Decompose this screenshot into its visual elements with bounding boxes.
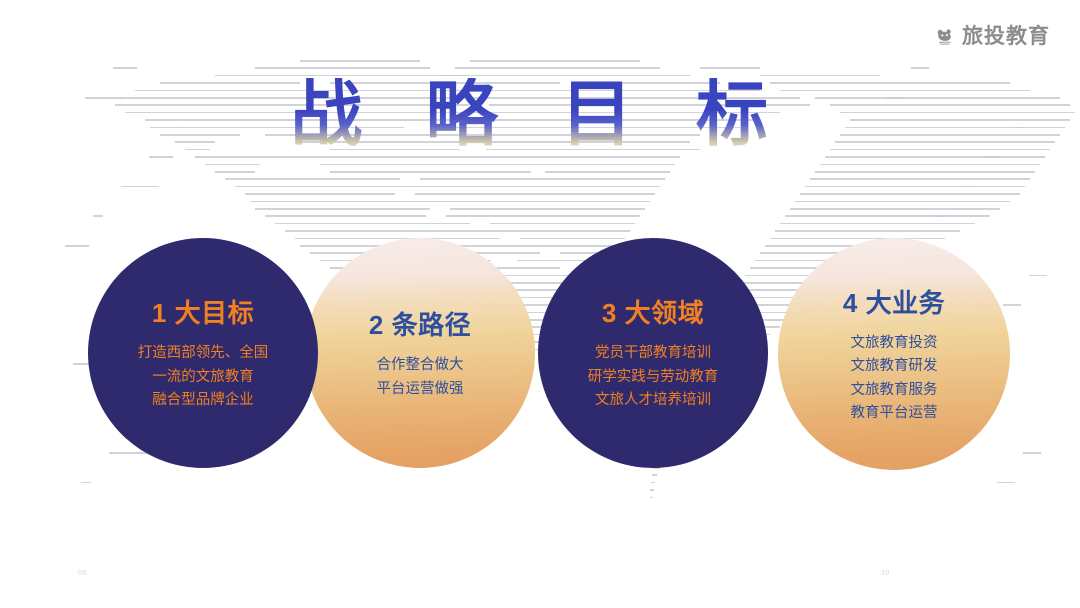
circle-body-line: 文旅教育服务: [851, 379, 938, 402]
page-title: 战 略 目 标: [0, 78, 1080, 154]
circle-body-line: 融合型品牌企业: [138, 389, 269, 412]
circle-title-2: 2 条路径: [369, 305, 471, 342]
circle-card-4[interactable]: 4 大业务 文旅教育投资 文旅教育研发 文旅教育服务 教育平台运营: [778, 238, 1010, 470]
circle-title-4: 4 大业务: [843, 283, 945, 320]
circle-body-line: 文旅人才培养培训: [588, 389, 719, 412]
panda-logo-icon: [935, 27, 955, 47]
circle-body-1: 打造西部领先、全国 一流的文旅教育 融合型品牌企业: [138, 342, 269, 412]
circle-card-1[interactable]: 1 大目标 打造西部领先、全国 一流的文旅教育 融合型品牌企业: [88, 238, 318, 468]
page-number-left: 09: [78, 570, 87, 577]
circle-body-4: 文旅教育投资 文旅教育研发 文旅教育服务 教育平台运营: [851, 332, 938, 426]
circle-title-3: 3 大领域: [602, 293, 704, 330]
circle-body-2: 合作整合做大 平台运营做强: [377, 354, 464, 401]
circle-body-line: 合作整合做大: [377, 354, 464, 377]
circle-body-line: 文旅教育研发: [851, 355, 938, 378]
circle-body-line: 研学实践与劳动教育: [588, 366, 719, 389]
circle-body-line: 打造西部领先、全国: [138, 342, 269, 365]
circle-body-line: 一流的文旅教育: [138, 366, 269, 389]
circle-body-line: 教育平台运营: [851, 402, 938, 425]
page-number-right: 10: [881, 570, 890, 577]
brand-logo-text: 旅投教育: [962, 26, 1050, 47]
circle-body-line: 党员干部教育培训: [588, 342, 719, 365]
circle-card-2[interactable]: 2 条路径 合作整合做大 平台运营做强: [305, 238, 535, 468]
slide-canvas: 旅投教育 战 略 目 标 1 大目标 打造西部领先、全国 一流的文旅教育 融合型…: [0, 0, 1080, 608]
circle-body-line: 文旅教育投资: [851, 332, 938, 355]
circle-body-3: 党员干部教育培训 研学实践与劳动教育 文旅人才培养培训: [588, 342, 719, 412]
circle-title-1: 1 大目标: [152, 293, 254, 330]
brand-logo: 旅投教育: [935, 26, 1050, 47]
circle-body-line: 平台运营做强: [377, 378, 464, 401]
circle-card-3[interactable]: 3 大领域 党员干部教育培训 研学实践与劳动教育 文旅人才培养培训: [538, 238, 768, 468]
